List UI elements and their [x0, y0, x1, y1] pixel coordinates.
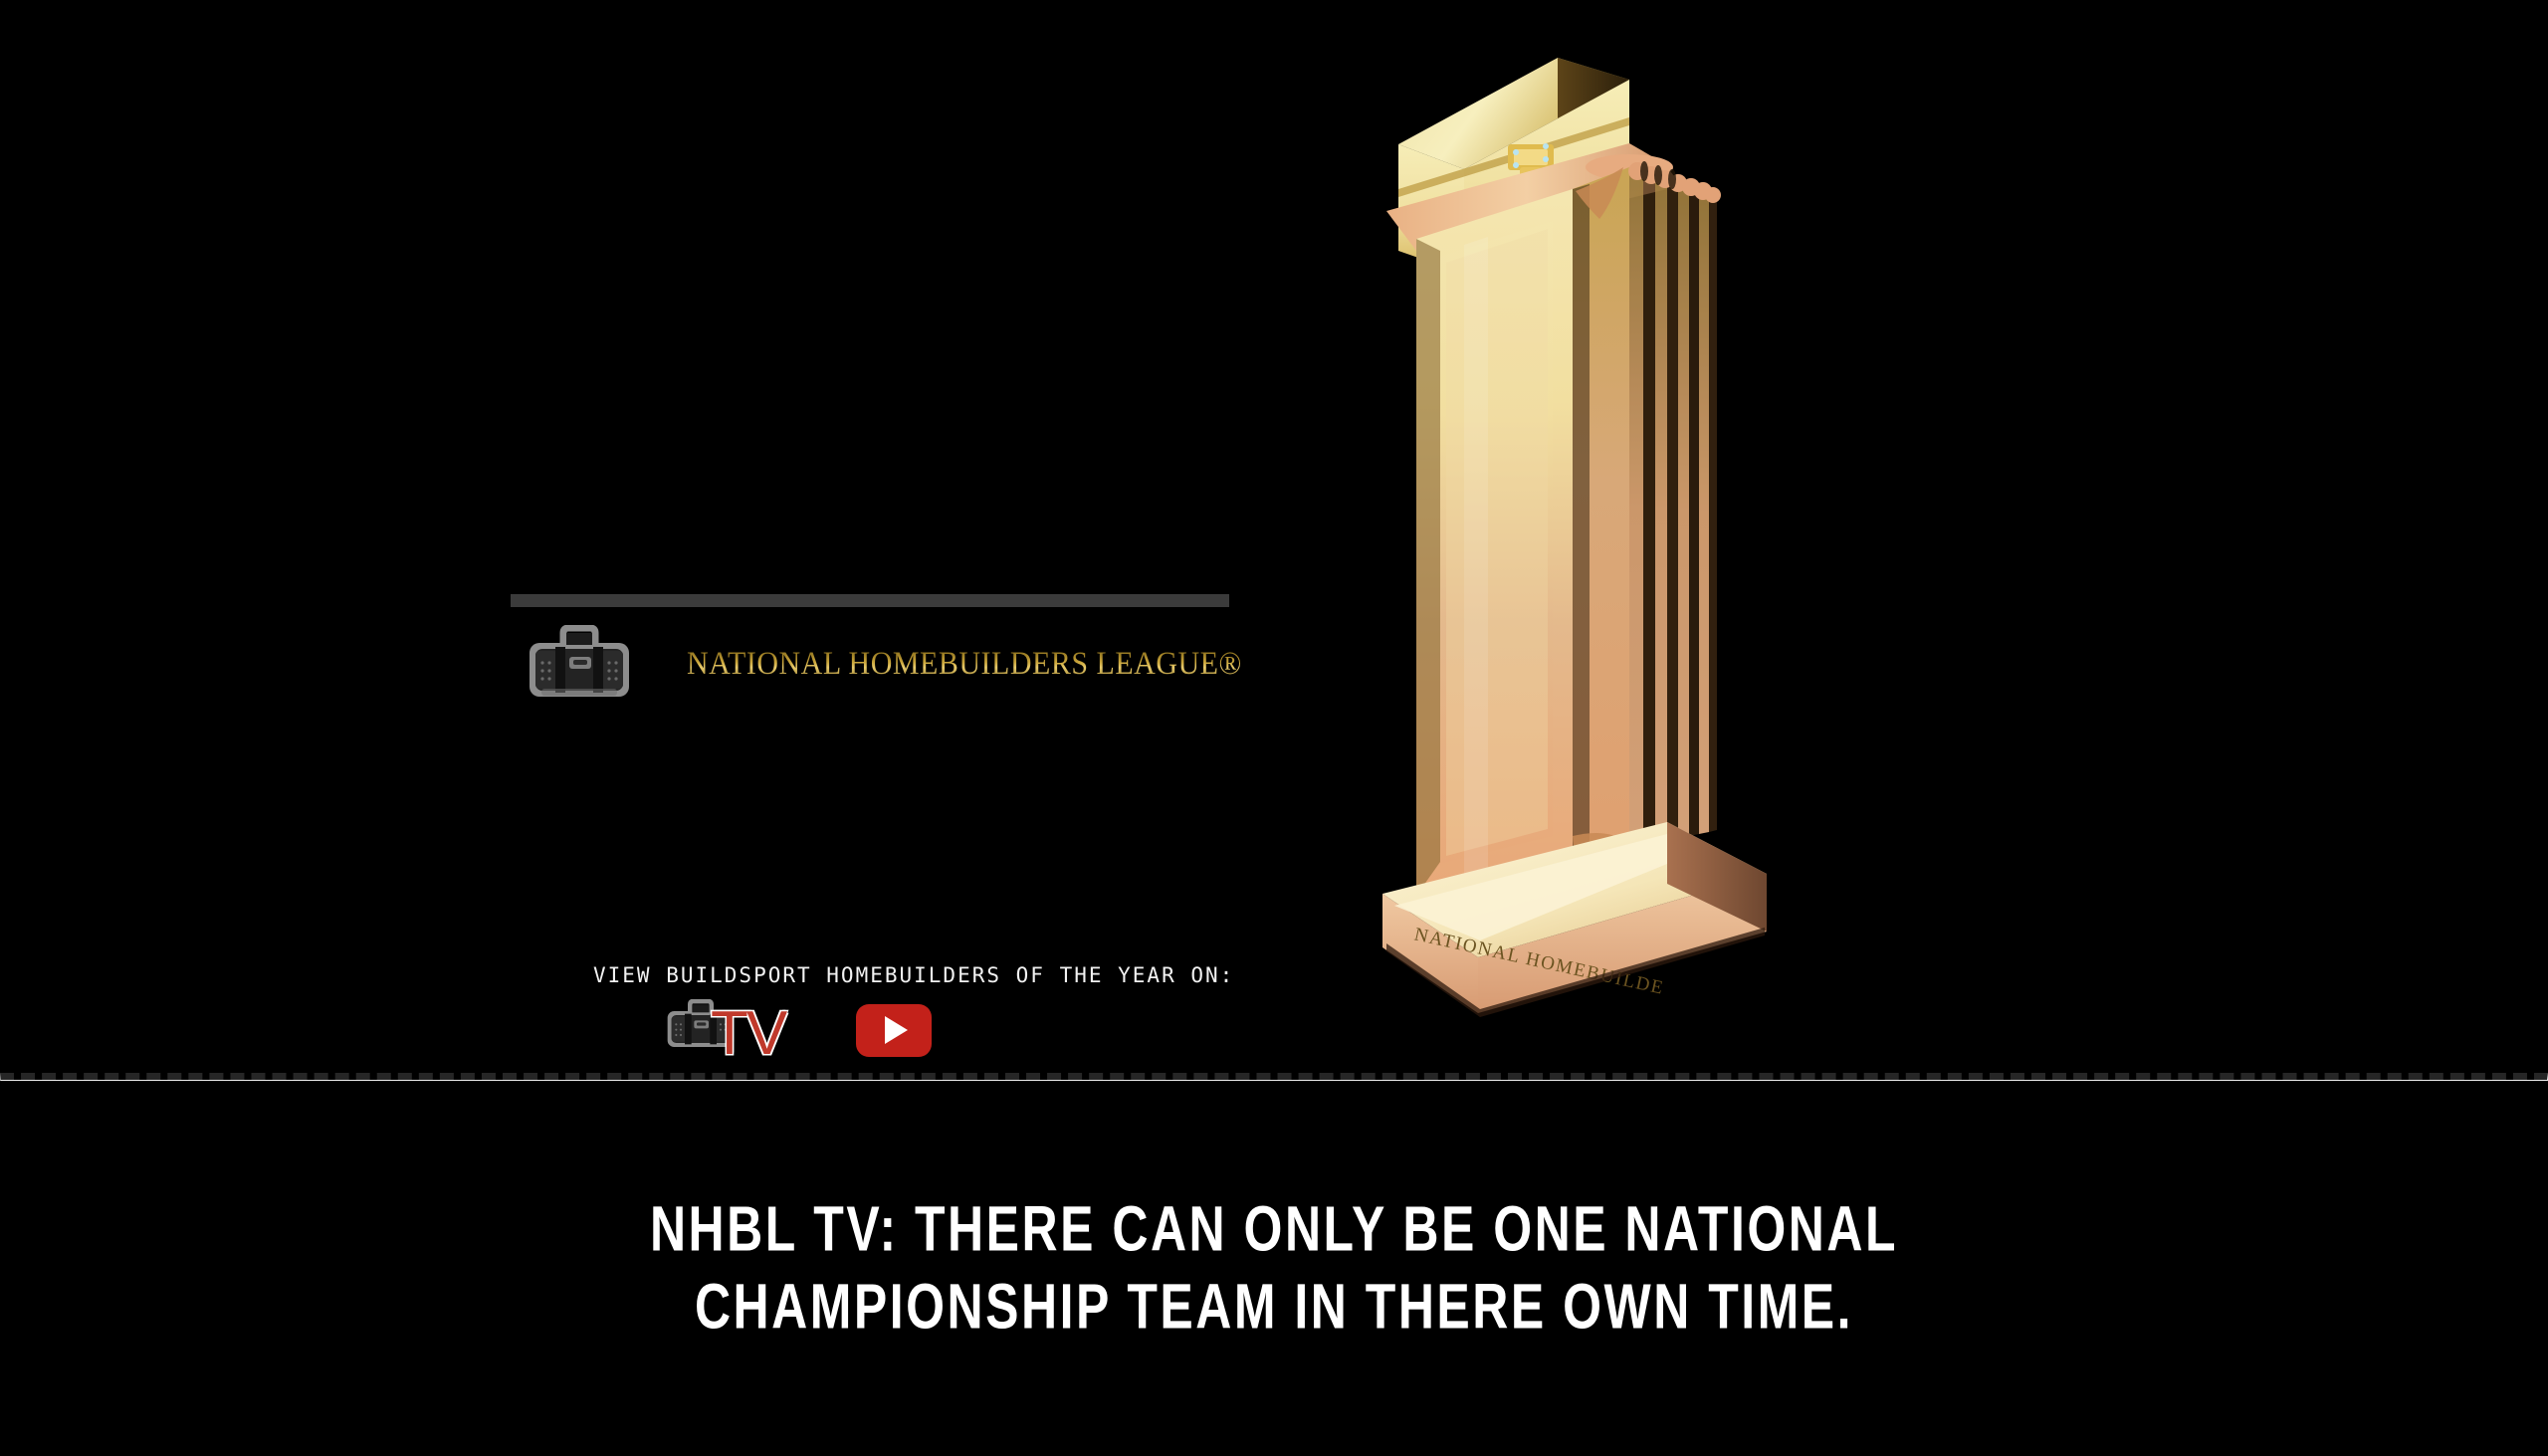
cta-block: VIEW BUILDSPORT HOMEBUILDERS OF THE YEAR… — [593, 963, 1234, 1061]
play-triangle-icon — [885, 1016, 908, 1044]
nhbl-tv-logo-link[interactable]: TV — [665, 999, 782, 1061]
subtitle-row: NATIONAL HOMEBUILDERS LEAGUE® — [526, 625, 1242, 703]
youtube-play-icon[interactable] — [856, 1004, 932, 1057]
page-root: NHBL CHAMPIONSHIP — [0, 0, 2548, 1456]
caption-line-2: CHAMPIONSHIP TEAM IN THERE OWN TIME. — [0, 1257, 2548, 1356]
section-divider — [0, 1073, 2548, 1081]
cta-icon-row: TV — [593, 999, 1234, 1061]
title-divider-bar — [511, 594, 1229, 607]
tv-logo-text: TV — [711, 1003, 785, 1065]
cta-label: VIEW BUILDSPORT HOMEBUILDERS OF THE YEAR… — [593, 963, 1234, 987]
title-block: NHBL CHAMPIONSHIP — [428, 476, 1324, 561]
subtitle-text: NATIONAL HOMEBUILDERS LEAGUE® — [687, 645, 1242, 682]
page-title: NHBL CHAMPIONSHIP — [428, 476, 1324, 576]
caption-section: NHBL TV: THERE CAN ONLY BE ONE NATIONAL … — [0, 1179, 2548, 1335]
toolbox-icon — [526, 625, 633, 703]
hero-section: NHBL CHAMPIONSHIP — [0, 0, 2548, 1077]
trophy-image: NATIONAL HOMEBUILDER LEAGUE — [1369, 40, 1876, 1035]
